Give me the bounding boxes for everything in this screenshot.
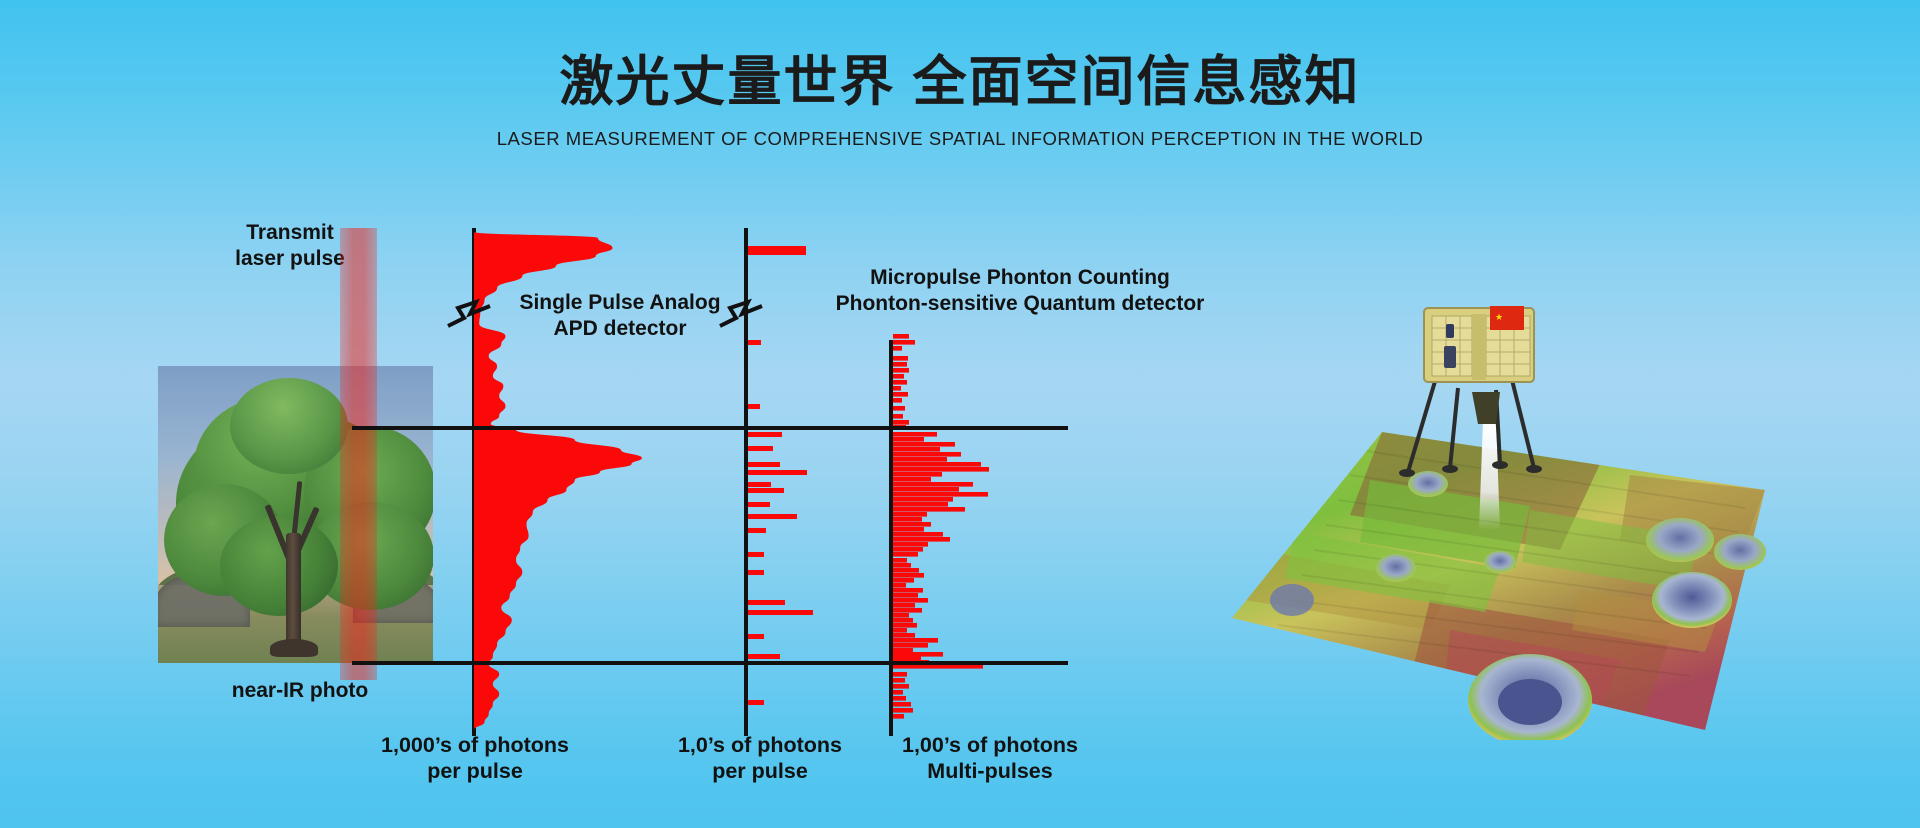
detector-right-line2: Phonton-sensitive Quantum detector [800,291,1240,317]
histogram-bar [893,420,909,425]
footer-caption-left: 1,000’s of photons per pulse [355,732,595,784]
histogram-bar [893,702,911,707]
histogram-bar [893,593,918,598]
histogram-bar [893,714,904,719]
histogram-bar [893,558,907,563]
terrain-svg: ★ [1200,300,1900,740]
crater [1270,584,1314,616]
histogram-bar [748,552,764,557]
histogram-bar [893,414,903,419]
histogram-bar [893,537,950,542]
histogram-bar [893,398,902,403]
lander-foot [1526,465,1542,473]
histogram-bar [893,633,915,638]
lander-foot [1399,469,1415,477]
histogram-bar [748,654,780,659]
histogram-bar [893,613,909,618]
crater-floor [1498,679,1562,725]
histogram-bar [893,374,904,379]
histogram-bar [893,578,914,583]
histogram-bar [893,618,913,623]
histogram-bar [893,462,981,467]
histogram-bar [893,690,903,695]
histogram-bar [893,638,938,643]
histogram-bar [893,442,955,447]
histogram-bar [893,652,943,657]
histogram-bar [893,648,913,653]
photo-caption: near-IR photo [180,678,420,704]
histogram-bar [748,488,784,493]
ground-reference-line [352,661,1068,665]
histogram-bar [893,678,905,683]
histogram-bar [893,552,918,557]
lander-engine [1472,392,1500,424]
terrain-model: ★ [1200,300,1900,740]
canopy-reference-line [352,426,1068,430]
histogram-bar [893,598,928,603]
crater [1376,554,1416,582]
histogram-bar [893,497,953,502]
histogram-bar [748,570,764,575]
crater [1652,572,1732,628]
histogram-bar [893,406,905,411]
flag-stars-icon: ★ [1495,312,1503,322]
histogram-bar [893,368,909,373]
histogram-bar [893,380,907,385]
histogram-bar [893,487,959,492]
histogram-bar [893,563,911,568]
crater [1714,534,1766,570]
histogram-bar [893,502,948,507]
histogram-bar [893,672,907,677]
histogram-bar [893,392,908,397]
histogram-bar [893,588,923,593]
histogram-bar [893,346,902,351]
histogram-bar [748,610,813,615]
crater [1484,551,1516,573]
histogram-bar [893,684,909,689]
histogram-bar [748,470,807,475]
detector-label-right: Micropulse Phonton Counting Phonton-sens… [800,265,1240,316]
footer-mid-line1: 1,0’s of photons [640,732,880,758]
terrain-surface [1232,432,1766,740]
footer-caption-right: 1,00’s of photons Multi-pulses [865,732,1115,784]
histogram-bar [893,603,915,608]
histogram-bar [893,467,989,472]
detector-label-left: Single Pulse Analog APD detector [460,290,780,341]
histogram-bar [748,446,773,451]
histogram-bar [893,583,906,588]
histogram-bar [893,477,931,482]
histogram-bar [748,462,780,467]
histogram-bar [893,492,988,497]
histogram-bar [893,512,927,517]
lander-foot [1492,461,1508,469]
detector-left-line1: Single Pulse Analog [460,290,780,316]
footer-right-line2: Multi-pulses [865,758,1115,784]
histogram-bar [893,527,924,532]
histogram-bar [748,600,785,605]
histogram-bar [893,517,922,522]
histogram-bar [893,362,907,367]
histogram-bar [893,334,909,339]
photo-tint-overlay [158,366,433,663]
plot3-bars [893,332,1073,732]
histogram-bar [748,700,764,705]
histogram-bar [893,568,919,573]
histogram-bar [893,656,921,661]
histogram-bar [893,507,965,512]
lander-spine [1472,314,1486,380]
diagram-stage: Transmit laser pulse near-IR photo [0,0,1920,828]
near-ir-photo [158,366,433,663]
histogram-bar [748,250,806,255]
histogram-bar [893,447,940,452]
histogram-bar [893,452,961,457]
histogram-bar [748,528,766,533]
footer-left-line1: 1,000’s of photons [355,732,595,758]
footer-left-line2: per pulse [355,758,595,784]
histogram-bar [893,457,947,462]
histogram-bar [893,643,928,648]
histogram-bar [893,708,913,713]
histogram-bar [893,340,915,345]
histogram-bar [893,356,908,361]
footer-right-line1: 1,00’s of photons [865,732,1115,758]
crater [1646,518,1714,562]
histogram-bar [748,404,760,409]
histogram-bar [893,522,931,527]
histogram-bar [893,608,922,613]
histogram-bar [893,547,923,552]
histogram-bar [893,437,924,442]
histogram-bar [748,634,764,639]
histogram-bar [893,482,973,487]
histogram-bar [748,514,797,519]
histogram-bar [893,696,906,701]
histogram-bar [893,386,901,391]
histogram-bar [893,542,928,547]
histogram-bar [748,432,782,437]
lander-instrument [1444,346,1456,368]
histogram-bar [893,472,942,477]
histogram-bar [893,623,917,628]
histogram-bar [893,628,907,633]
lander-foot [1442,465,1458,473]
lander-instrument [1446,324,1454,338]
histogram-bar [893,532,943,537]
transmit-laser-beam [340,228,377,680]
histogram-bar [748,482,771,487]
footer-mid-line2: per pulse [640,758,880,784]
detector-right-line1: Micropulse Phonton Counting [800,265,1240,291]
detector-left-line2: APD detector [460,316,780,342]
histogram-bar [893,573,924,578]
histogram-bar [748,502,770,507]
footer-caption-middle: 1,0’s of photons per pulse [640,732,880,784]
histogram-bar [893,432,937,437]
